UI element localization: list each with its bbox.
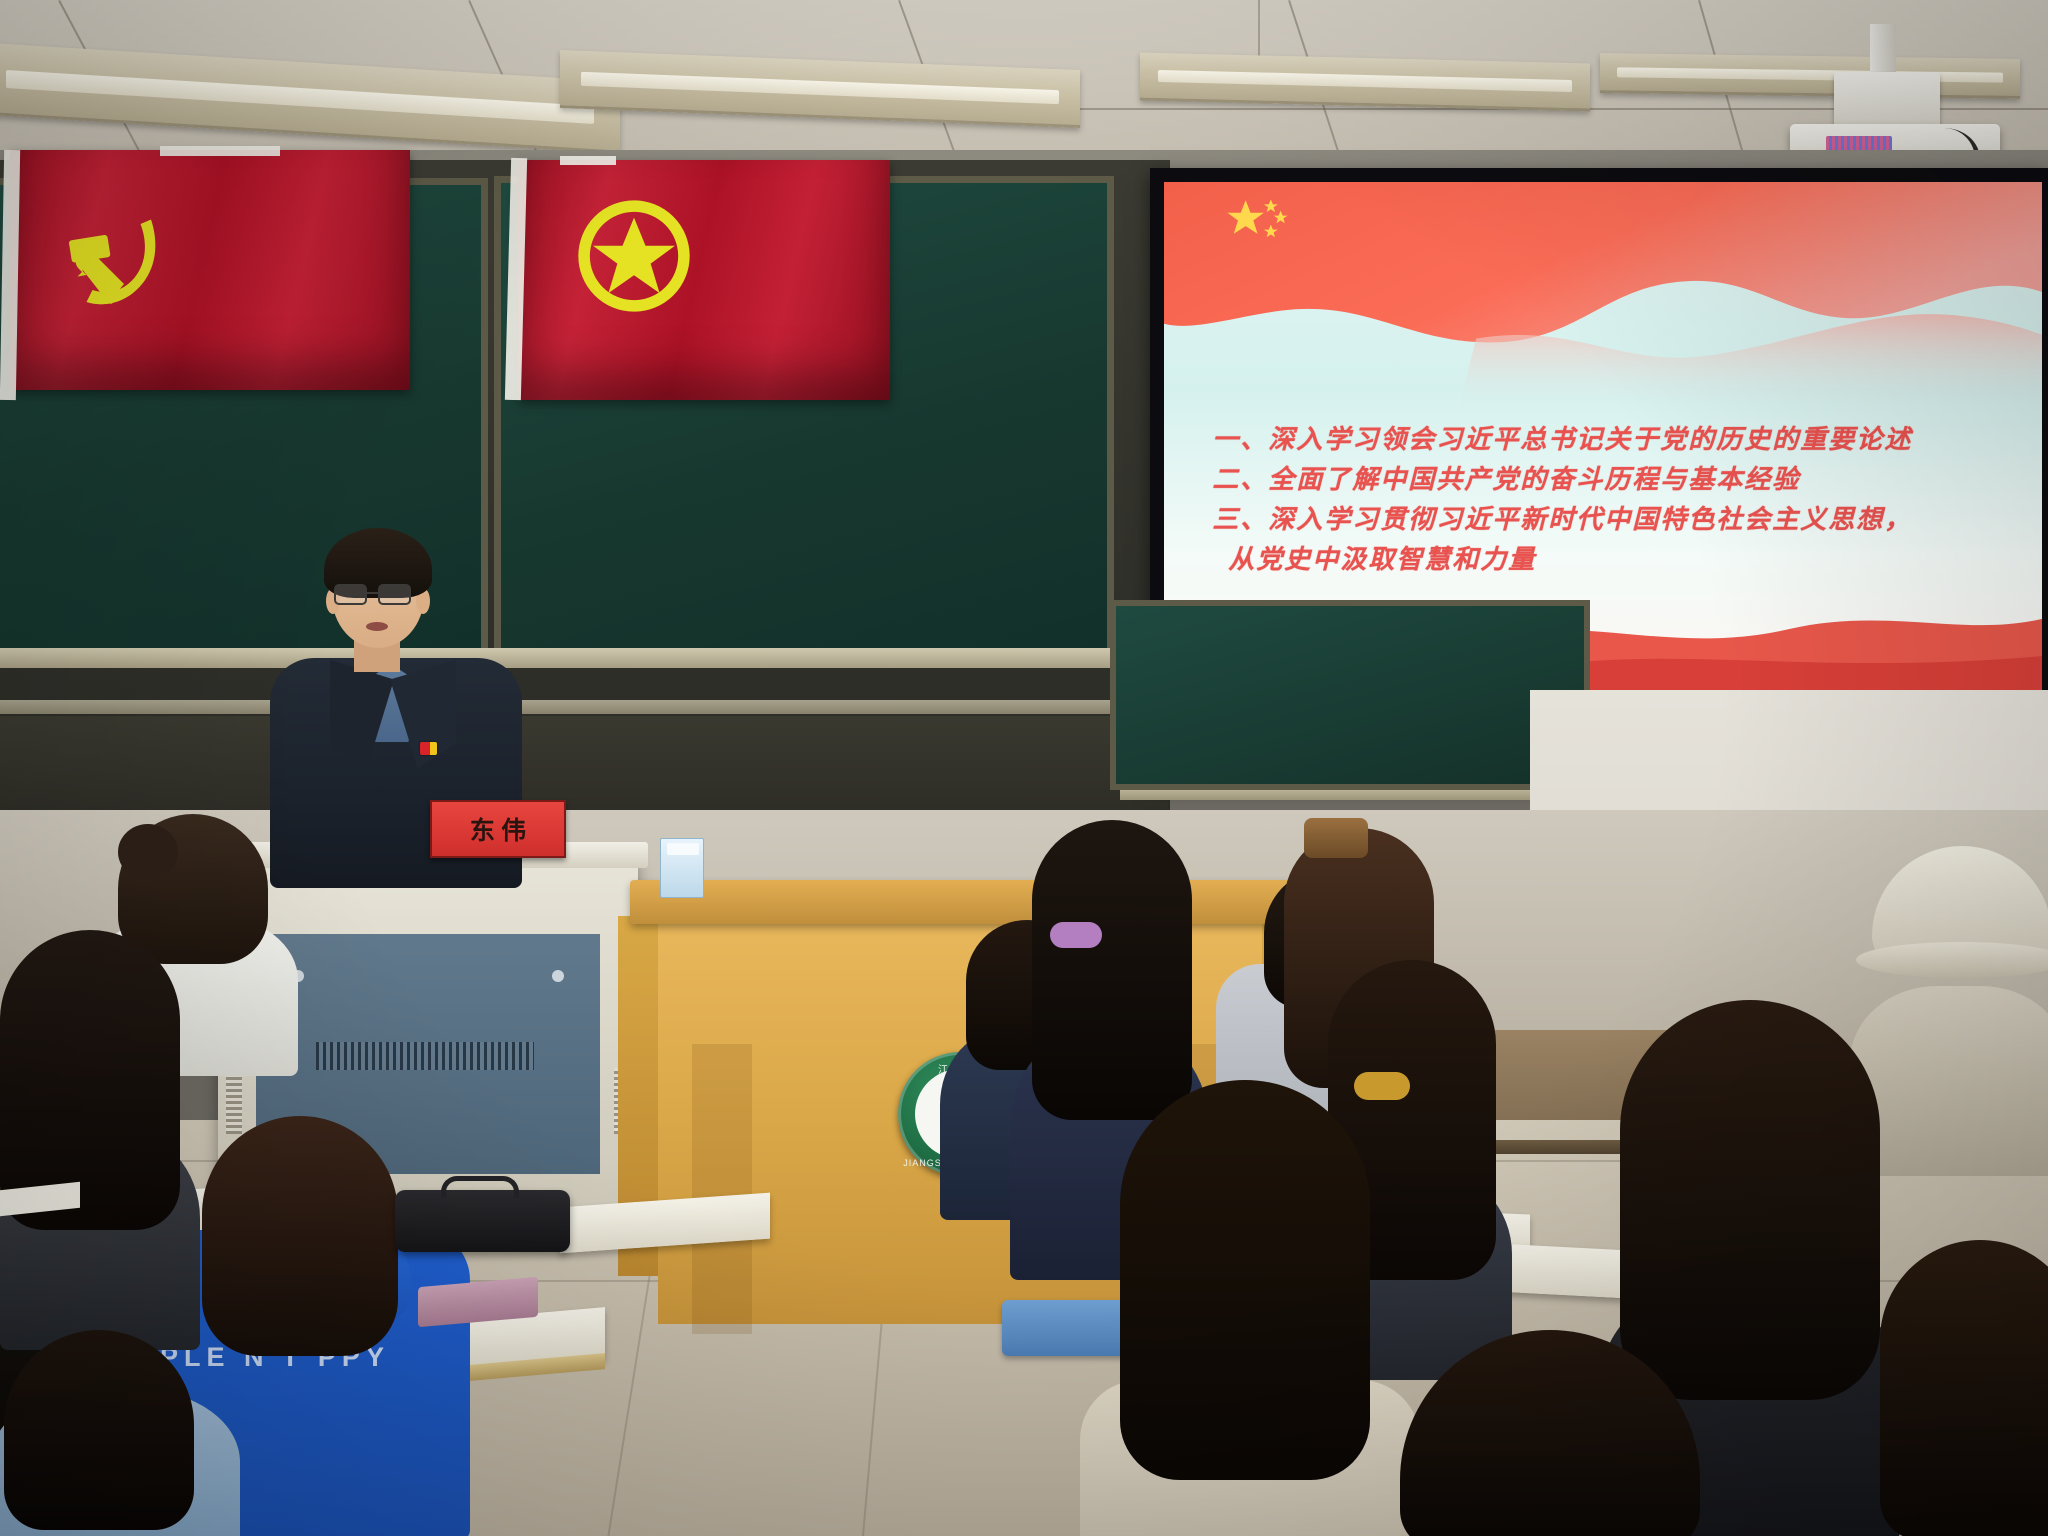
eyeglasses-lens-right (378, 584, 411, 605)
projector-mount-bracket (1834, 72, 1940, 130)
student-hair (1400, 1330, 1700, 1536)
china-flag-stars-icon (1195, 196, 1335, 252)
name-plate: 东 伟 (430, 800, 566, 858)
slide-line-3: 三、深入学习贯彻习近平新时代中国特色社会主义思想， (1212, 500, 2015, 540)
hair-clip (1304, 818, 1368, 858)
student (1400, 1330, 1720, 1536)
chalkboard-shadow (0, 716, 1168, 812)
flag-tape-top-left (160, 146, 280, 156)
student-hair (0, 930, 180, 1230)
slide-text-block: 一、深入学习领会习近平总书记关于党的历史的重要论述 二、全面了解中国共产党的奋斗… (1212, 420, 2015, 580)
communist-youth-league-flag (518, 160, 890, 400)
student (1080, 1080, 1420, 1536)
eyeglasses-bridge (366, 592, 378, 594)
student-hair (1032, 820, 1192, 1120)
hammer-and-sickle-icon (40, 188, 190, 338)
chalk-tray (0, 648, 1168, 668)
student (0, 1330, 250, 1536)
console-ventilation (316, 1042, 534, 1070)
hat-brim (1856, 942, 2048, 978)
student-hair (1880, 1240, 2048, 1536)
chalk-tray-lower (0, 700, 1168, 714)
eyeglasses-lens-left (334, 584, 367, 605)
student-hair (1120, 1080, 1370, 1480)
communist-party-flag (10, 150, 410, 390)
student (0, 930, 200, 1350)
name-plate-text: 东 伟 (432, 802, 564, 856)
blackboard-panel-right (1110, 600, 1590, 790)
classroom-scene: 一、深入学习领会习近平总书记关于党的历史的重要论述 二、全面了解中国共产党的奋斗… (0, 0, 2048, 1536)
tissue-box[interactable] (660, 838, 704, 898)
student-hair (4, 1330, 194, 1530)
star-in-circle-icon (570, 192, 698, 320)
hair-tie (1050, 922, 1102, 948)
podium-shadow-left (692, 1044, 752, 1334)
slide-line-2: 二、全面了解中国共产党的奋斗历程与基本经验 (1212, 460, 2015, 500)
flag-tape-top-center (560, 156, 616, 165)
console-screw (552, 970, 564, 982)
slide-red-banner (1164, 182, 2042, 415)
party-emblem-pin (420, 742, 437, 755)
student (1880, 1240, 2048, 1536)
tissue-box-opening (667, 843, 699, 855)
laptop-bag[interactable] (395, 1190, 570, 1252)
slide-line-1: 一、深入学习领会习近平总书记关于党的历史的重要论述 (1212, 420, 2015, 460)
bag-handle (441, 1176, 519, 1198)
hair-bun (118, 824, 178, 880)
student-hair (202, 1116, 398, 1356)
lecturer-mouth (366, 622, 388, 631)
